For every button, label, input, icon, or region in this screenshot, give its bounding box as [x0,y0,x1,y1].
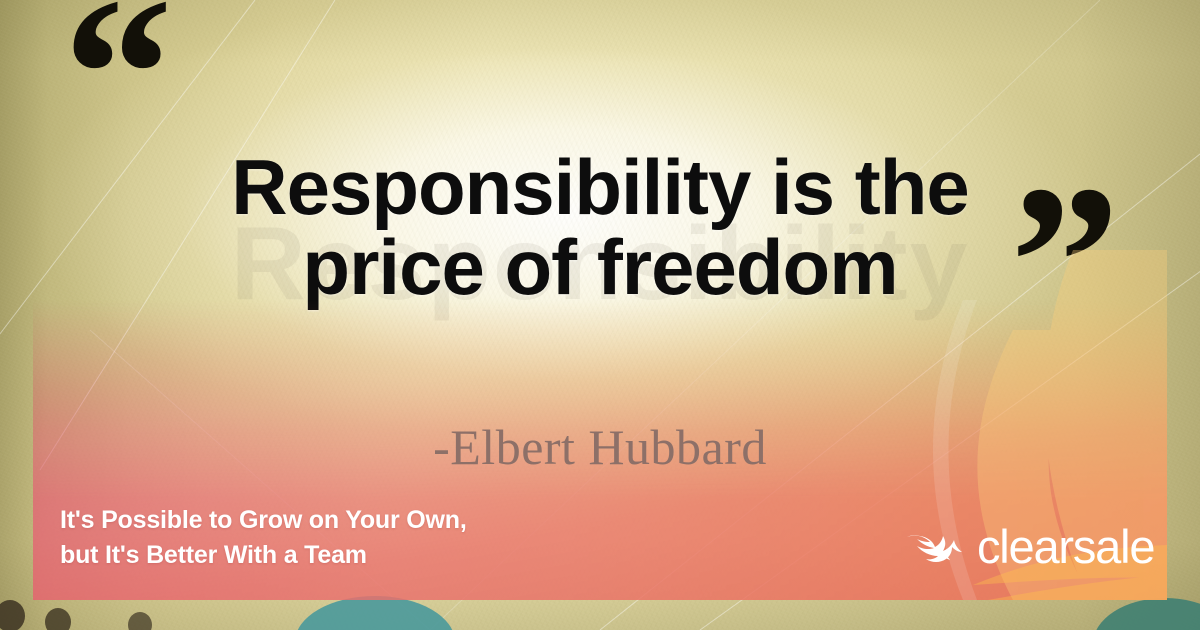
bird-icon [905,525,963,569]
caption-line-1: It's Possible to Grow on Your Own, [60,503,467,538]
quote-graphic-canvas: Responsibility “ ” Responsibility is the… [0,0,1200,630]
clearsale-logo[interactable]: clearsale [905,523,1154,570]
caption-line-2: but It's Better With a Team [60,538,467,573]
quote-attribution: -Elbert Hubbard [0,418,1200,476]
clearsale-wordmark: clearsale [977,523,1154,570]
banner-caption: It's Possible to Grow on Your Own, but I… [60,503,467,572]
